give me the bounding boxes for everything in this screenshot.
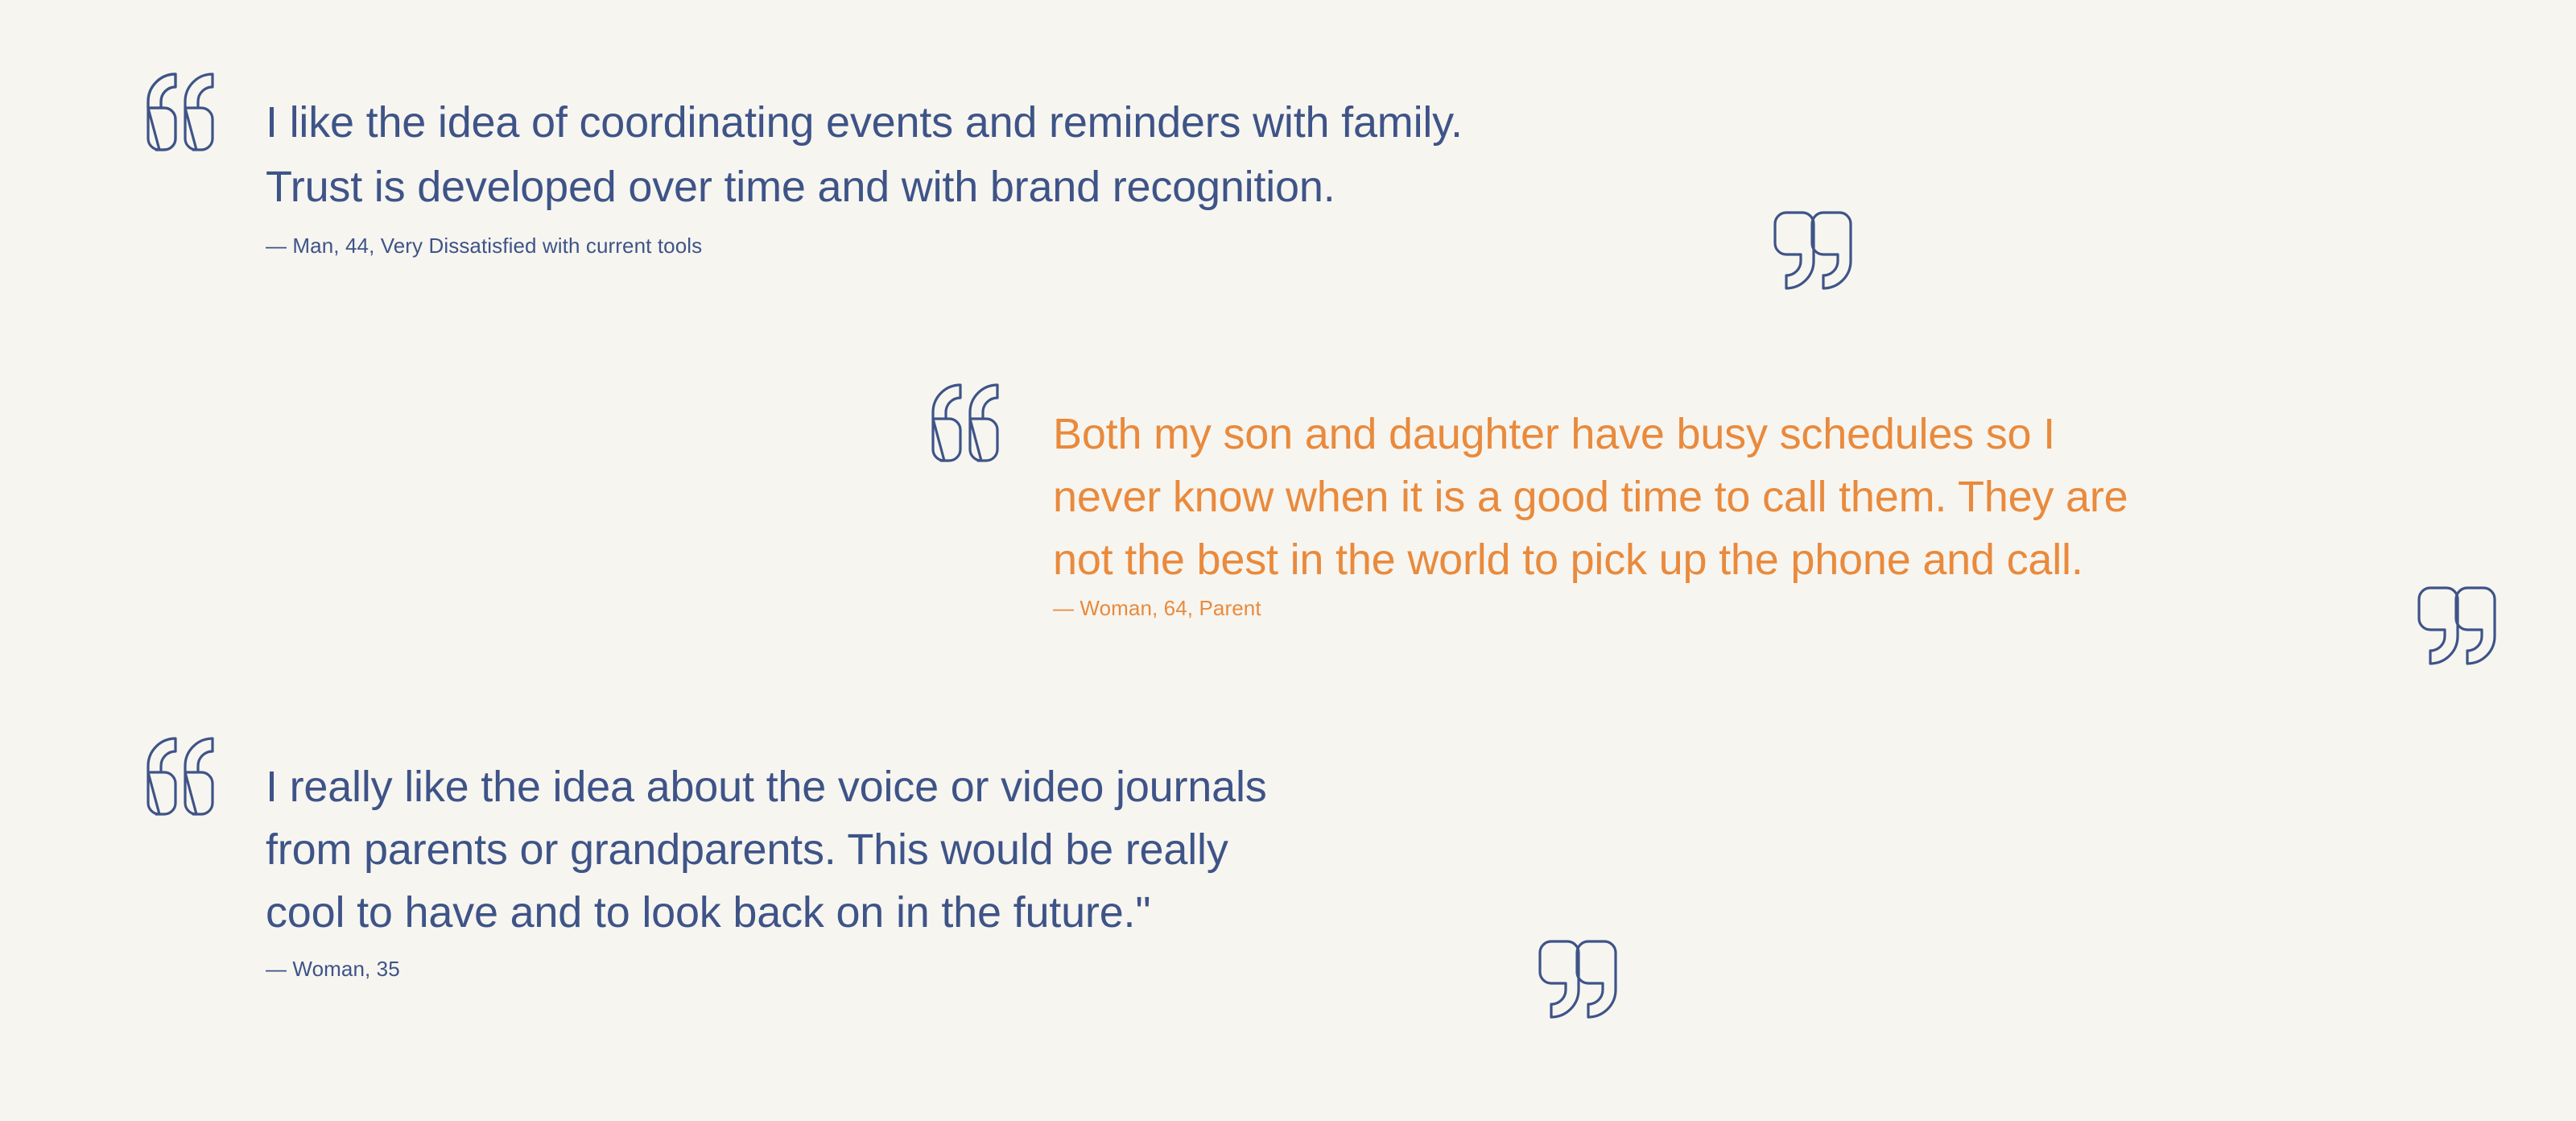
quote-text-3: I really like the idea about the voice o… <box>266 755 1267 944</box>
close-quote-icon <box>1773 211 1865 290</box>
quote-text-2: Both my son and daughter have busy sched… <box>1053 403 2128 591</box>
open-quote-icon <box>919 383 1012 462</box>
quote-attribution-2: — Woman, 64, Parent <box>1053 594 2128 622</box>
quote-block-1: I like the idea of coordinating events a… <box>266 90 1463 259</box>
quote-block-3: I really like the idea about the voice o… <box>266 755 1267 982</box>
quote-text-1: I like the idea of coordinating events a… <box>266 90 1463 219</box>
open-quote-icon <box>134 737 227 816</box>
quote-attribution-3: — Woman, 35 <box>266 955 1267 982</box>
quote-attribution-1: — Man, 44, Very Dissatisfied with curren… <box>266 232 1463 259</box>
testimonial-quote-board: I like the idea of coordinating events a… <box>0 0 2576 1121</box>
close-quote-icon <box>1538 940 1630 1019</box>
close-quote-icon <box>2417 586 2509 665</box>
quote-block-2: Both my son and daughter have busy sched… <box>1053 403 2128 622</box>
open-quote-icon <box>134 72 227 151</box>
